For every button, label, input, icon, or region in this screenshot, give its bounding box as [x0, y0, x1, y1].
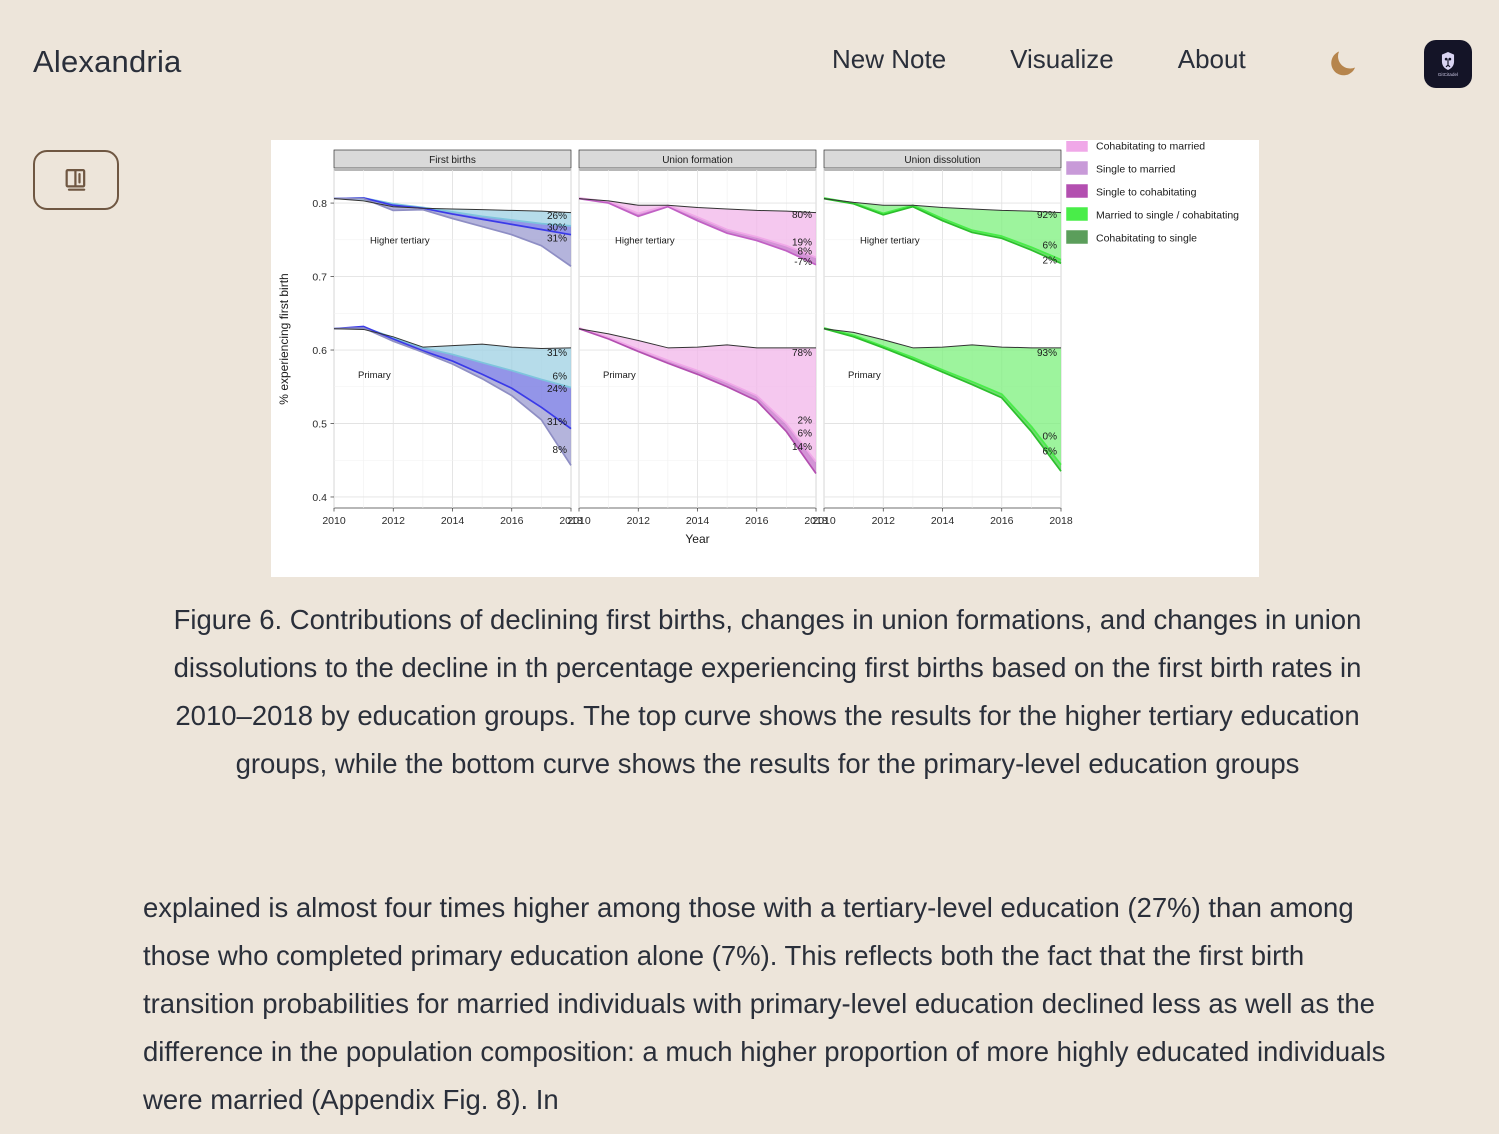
svg-text:0.8: 0.8 [312, 198, 327, 210]
chart-container: First births20102012201420162018Union fo… [271, 140, 1259, 577]
svg-text:2010: 2010 [812, 515, 836, 527]
nav-links: New Note Visualize About [800, 44, 1278, 75]
figure-image: First births20102012201420162018Union fo… [271, 140, 1259, 577]
svg-text:First births: First births [429, 155, 476, 166]
nav-item-about[interactable]: About [1146, 44, 1278, 75]
svg-text:-7%: -7% [794, 257, 812, 268]
svg-text:Single to cohabitating: Single to cohabitating [1096, 187, 1197, 199]
svg-text:0.6: 0.6 [312, 345, 327, 357]
svg-text:30%: 30% [547, 222, 567, 233]
svg-text:2016: 2016 [500, 515, 524, 527]
svg-text:Higher tertiary: Higher tertiary [615, 235, 675, 246]
figure-caption: Figure 6. Contributions of declining fir… [140, 596, 1395, 788]
svg-text:6%: 6% [1043, 446, 1058, 457]
svg-text:Primary: Primary [358, 370, 391, 381]
faceted-line-chart: First births20102012201420162018Union fo… [271, 140, 1259, 577]
svg-text:2010: 2010 [567, 515, 591, 527]
svg-text:Cohabitating to married: Cohabitating to married [1096, 141, 1205, 153]
svg-text:31%: 31% [547, 417, 567, 428]
svg-text:8%: 8% [553, 445, 568, 456]
svg-text:% experiencing first birth: % experiencing first birth [277, 273, 291, 404]
svg-text:2014: 2014 [441, 515, 465, 527]
svg-text:Primary: Primary [603, 370, 636, 381]
gitcitadel-badge[interactable]: GitCitadel [1424, 40, 1472, 88]
svg-text:2%: 2% [798, 416, 813, 427]
svg-text:Cohabitating to single: Cohabitating to single [1096, 233, 1197, 245]
svg-text:Higher tertiary: Higher tertiary [860, 235, 920, 246]
svg-text:6%: 6% [798, 429, 813, 440]
theme-toggle-button[interactable] [1322, 42, 1364, 84]
nav-item-new-note[interactable]: New Note [800, 44, 978, 75]
brand-title[interactable]: Alexandria [33, 44, 181, 80]
svg-text:2012: 2012 [872, 515, 896, 527]
svg-text:2014: 2014 [686, 515, 710, 527]
svg-text:2012: 2012 [627, 515, 651, 527]
svg-text:Year: Year [685, 532, 709, 546]
svg-text:0.4: 0.4 [312, 492, 327, 504]
svg-text:31%: 31% [547, 233, 567, 244]
svg-text:2010: 2010 [322, 515, 346, 527]
svg-text:Primary: Primary [848, 370, 881, 381]
svg-text:Higher tertiary: Higher tertiary [370, 235, 430, 246]
svg-text:2016: 2016 [745, 515, 769, 527]
svg-text:26%: 26% [547, 211, 567, 222]
badge-label: GitCitadel [1438, 73, 1458, 77]
svg-text:2018: 2018 [1049, 515, 1073, 527]
svg-text:2012: 2012 [382, 515, 406, 527]
svg-text:0.5: 0.5 [312, 419, 327, 431]
svg-text:Union dissolution: Union dissolution [904, 155, 980, 166]
svg-text:2016: 2016 [990, 515, 1014, 527]
svg-text:93%: 93% [1037, 348, 1057, 359]
svg-text:6%: 6% [553, 371, 568, 382]
top-navbar: Alexandria New Note Visualize About GitC… [0, 0, 1499, 128]
svg-text:Single to married: Single to married [1096, 164, 1176, 176]
svg-text:Married to single / cohabitati: Married to single / cohabitating [1096, 210, 1239, 222]
reader-mode-button[interactable] [33, 150, 119, 210]
svg-text:2014: 2014 [931, 515, 955, 527]
svg-text:6%: 6% [1043, 241, 1058, 252]
svg-text:24%: 24% [547, 384, 567, 395]
svg-text:0.7: 0.7 [312, 272, 327, 284]
body-paragraph: explained is almost four times higher am… [143, 884, 1391, 1124]
svg-text:31%: 31% [547, 348, 567, 359]
svg-text:2%: 2% [1043, 255, 1058, 266]
nav-item-visualize[interactable]: Visualize [978, 44, 1146, 75]
svg-text:Union formation: Union formation [662, 155, 733, 166]
gitcitadel-logo-icon [1437, 50, 1459, 72]
svg-text:78%: 78% [792, 348, 812, 359]
svg-text:0%: 0% [1043, 432, 1058, 443]
svg-text:14%: 14% [792, 442, 812, 453]
book-icon [62, 166, 90, 194]
moon-icon [1326, 46, 1360, 80]
svg-text:80%: 80% [792, 210, 812, 221]
svg-text:92%: 92% [1037, 210, 1057, 221]
